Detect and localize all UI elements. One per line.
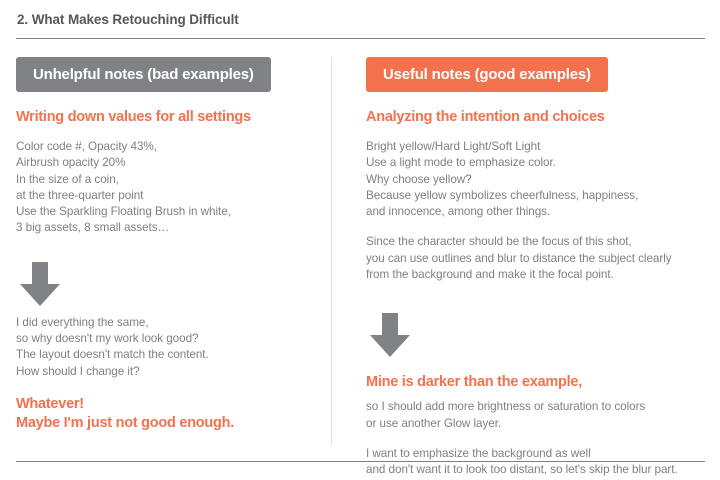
column-good-examples: Useful notes (good examples) Analyzing t…: [366, 57, 696, 479]
right-conclusion-body-second: I want to emphasize the background as we…: [366, 446, 696, 479]
right-section-body-second: Since the character should be the focus …: [366, 234, 696, 283]
badge-unhelpful-notes: Unhelpful notes (bad examples): [16, 57, 271, 92]
left-section-body: Color code #, Opacity 43%, Airbrush opac…: [16, 139, 316, 237]
right-conclusion-body: so I should add more brightness or satur…: [366, 399, 696, 432]
slide-canvas: 2. What Makes Retouching Difficult Unhel…: [0, 0, 720, 480]
left-conclusion-accent: Whatever! Maybe I'm just not good enough…: [16, 395, 316, 433]
left-section-heading: Writing down values for all settings: [16, 109, 316, 125]
right-section-body: Bright yellow/Hard Light/Soft Light Use …: [366, 139, 696, 220]
left-conclusion-body: I did everything the same, so why doesn'…: [16, 315, 316, 380]
column-bad-examples: Unhelpful notes (bad examples) Writing d…: [16, 57, 316, 433]
badge-useful-notes: Useful notes (good examples): [366, 57, 608, 92]
footer-divider-rule: [16, 461, 705, 462]
header-divider-rule: [16, 38, 705, 39]
arrow-down-icon: [370, 313, 410, 357]
right-section-heading: Analyzing the intention and choices: [366, 109, 696, 125]
arrow-down-icon: [20, 262, 60, 306]
page-title: 2. What Makes Retouching Difficult: [17, 12, 239, 27]
column-divider: [331, 57, 332, 445]
right-conclusion-heading: Mine is darker than the example,: [366, 374, 696, 390]
